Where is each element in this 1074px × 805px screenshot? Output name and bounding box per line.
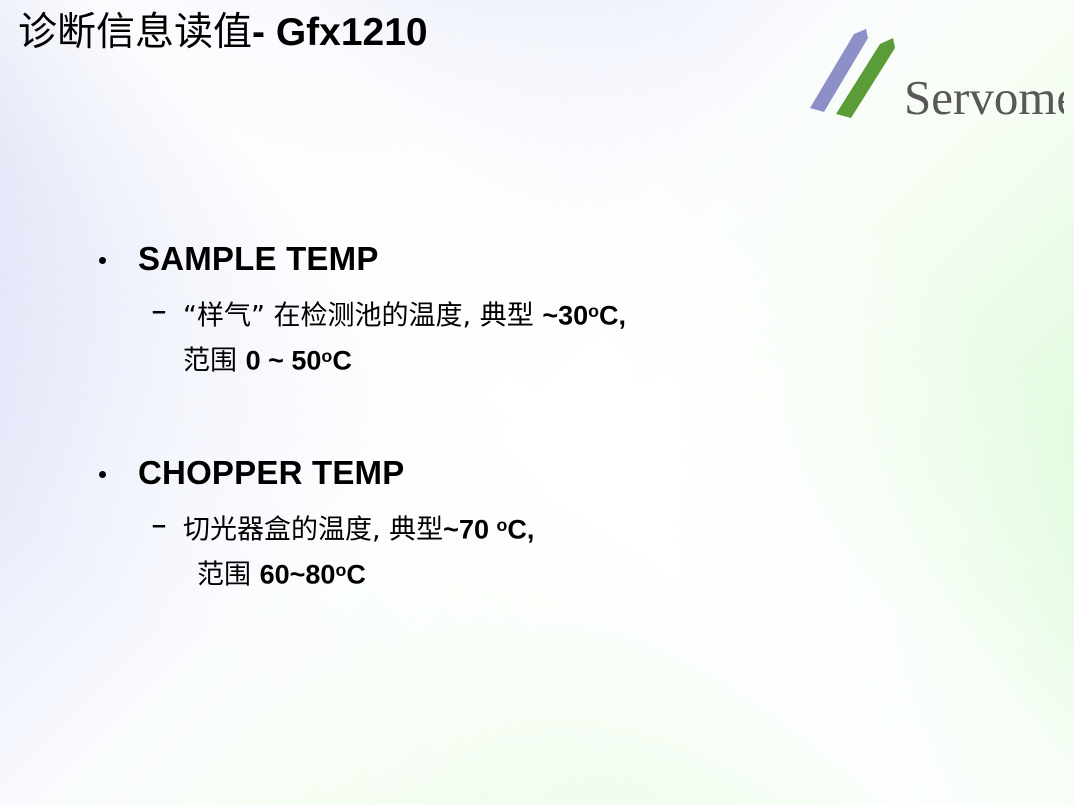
text-run-deg: o [496,515,507,535]
logo-wordmark: Servomex [904,70,1064,125]
bullet-block-sample-temp: SAMPLE TEMP – “样气” 在检测池的温度, 典型 ~30oC, 范围… [0,236,1074,382]
bullet-dot-icon [99,471,106,478]
text-run-num: C, [507,514,534,544]
page-title-model: - Gfx1210 [252,11,428,54]
sub-line: “样气” 在检测池的温度, 典型 ~30oC, [183,291,1074,336]
en-dash-icon: – [152,291,170,331]
sub-bullet-chopper-temp: – 切光器盒的温度, 典型~70 oC, 范围 60~80oC [0,505,1074,596]
bullet-block-chopper-temp: CHOPPER TEMP – 切光器盒的温度, 典型~70 oC, 范围 60~… [0,450,1074,596]
slide-body: SAMPLE TEMP – “样气” 在检测池的温度, 典型 ~30oC, 范围… [0,236,1074,596]
text-run-num: ~70 [443,514,496,544]
text-run-zh: 范围 [183,346,246,377]
sub-line: 切光器盒的温度, 典型~70 oC, [183,505,1074,550]
text-run-deg: o [588,301,599,321]
text-run-deg: o [321,346,332,366]
bullet-item-sample-temp: SAMPLE TEMP [0,236,1074,282]
text-run-zh: “样气” 在检测池的温度, 典型 [183,300,542,331]
text-run-num: C, [599,300,626,330]
slide-canvas: 诊断信息读值- Gfx1210 Servomex SAMPLE TEMP – “… [0,0,1074,805]
bullet-dot-icon [99,257,106,264]
text-run-num: 60~80 [260,560,336,590]
text-run-num: ~30 [542,300,588,330]
en-dash-icon: – [152,505,170,545]
bullet-item-chopper-temp: CHOPPER TEMP [0,450,1074,496]
text-run-num: 0 ~ 50 [246,346,322,376]
page-title: 诊断信息读值- Gfx1210 [18,8,428,58]
sub-line: 范围 60~80oC [183,550,1074,595]
page-title-chinese: 诊断信息读值 [18,10,252,55]
text-run-zh: 切光器盒的温度, 典型 [183,514,443,545]
sub-line: 范围 0 ~ 50oC [183,336,1074,381]
text-run-zh: 范围 [197,560,260,591]
text-run-deg: o [335,560,346,580]
text-run-num: C [346,560,366,590]
text-run-num: C [332,346,352,376]
bullet-label-sample-temp: SAMPLE TEMP [138,240,379,277]
bullet-label-chopper-temp: CHOPPER TEMP [138,454,404,491]
servomex-logo: Servomex [792,22,1064,132]
sub-bullet-sample-temp: – “样气” 在检测池的温度, 典型 ~30oC, 范围 0 ~ 50oC [0,291,1074,382]
